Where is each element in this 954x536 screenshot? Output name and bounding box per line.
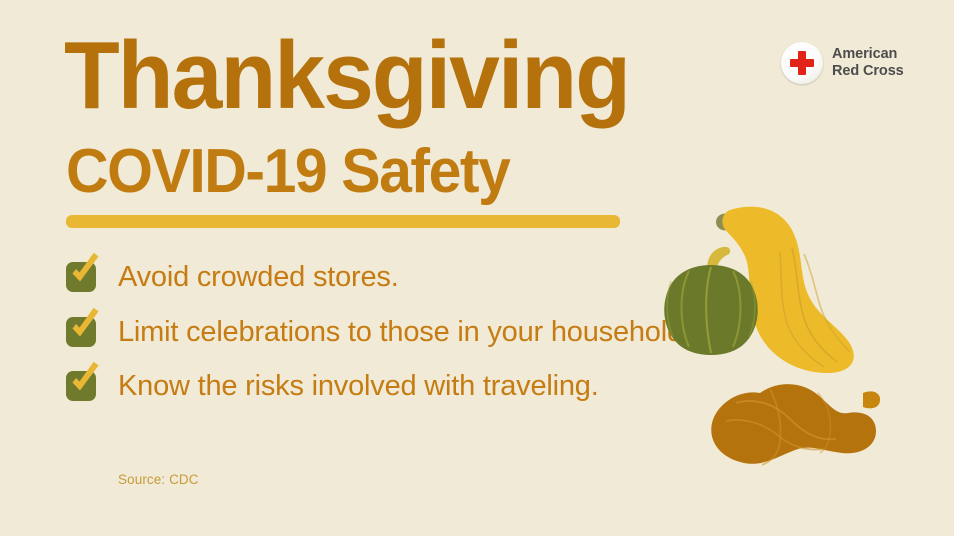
list-item: Know the risks involved with traveling.	[66, 367, 706, 406]
page-subtitle: COVID-19 Safety	[66, 141, 509, 203]
logo-wordmark-line2: Red Cross	[832, 63, 904, 80]
check-mark-icon	[65, 362, 101, 402]
check-mark-icon	[65, 253, 101, 293]
list-item-label: Know the risks involved with traveling.	[118, 367, 599, 406]
squash-brown-illustration	[700, 363, 900, 483]
check-mark-icon	[65, 308, 101, 348]
safety-checklist: Avoid crowded stores. Limit celebrations…	[66, 258, 706, 422]
logo-wordmark: American Red Cross	[832, 46, 904, 79]
red-cross-icon	[781, 42, 823, 84]
list-item-label: Limit celebrations to those in your hous…	[118, 313, 691, 352]
red-cross-horizontal-bar	[790, 59, 814, 67]
checkbox-checked-icon	[66, 260, 98, 292]
list-item-label: Avoid crowded stores.	[118, 258, 399, 297]
title-underline-rule	[66, 215, 620, 228]
pumpkin-green-illustration	[641, 243, 781, 358]
list-item: Avoid crowded stores.	[66, 258, 706, 297]
checkbox-checked-icon	[66, 369, 98, 401]
checkbox-checked-icon	[66, 315, 98, 347]
source-credit: Source: CDC	[118, 472, 199, 487]
logo-wordmark-line1: American	[832, 46, 904, 63]
american-red-cross-logo: American Red Cross	[781, 42, 904, 84]
page-title: Thanksgiving	[64, 28, 629, 124]
poster-canvas: American Red Cross Thanksgiving COVID-19…	[0, 0, 954, 536]
list-item: Limit celebrations to those in your hous…	[66, 313, 706, 352]
